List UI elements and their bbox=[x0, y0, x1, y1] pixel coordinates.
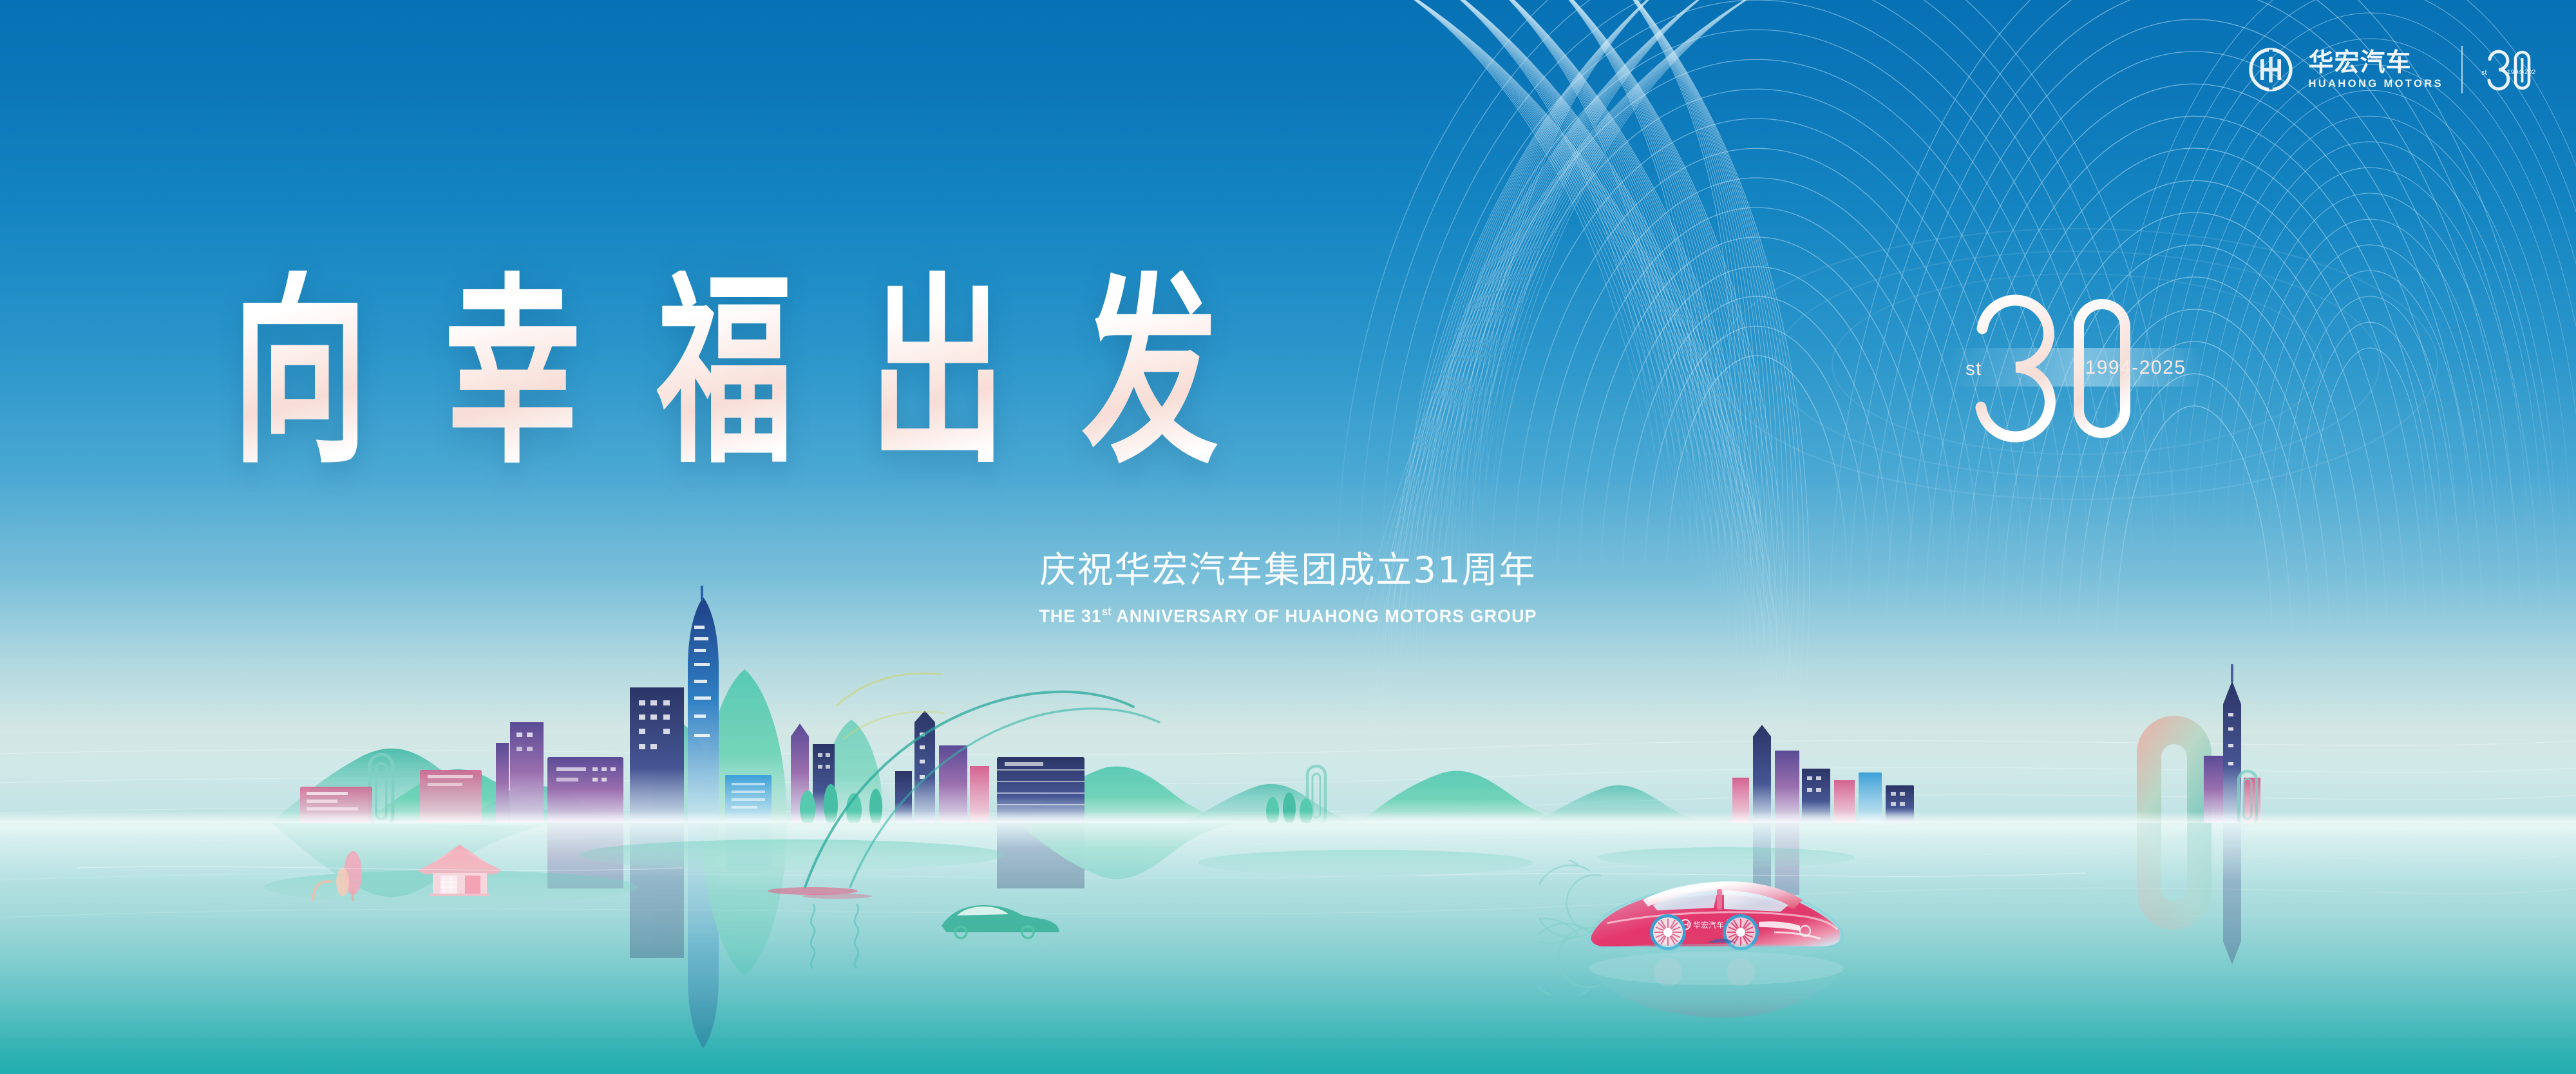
building bbox=[914, 711, 935, 823]
brand-name-english: HUAHONG MOTORS bbox=[2308, 79, 2443, 90]
ripple-squiggles bbox=[811, 904, 858, 968]
car-door-brand: 华宏汽车 bbox=[1693, 920, 1724, 930]
headline: “ 向 ” 幸 福 出 发 ” bbox=[232, 271, 1222, 411]
building bbox=[2244, 778, 2260, 823]
arch-building bbox=[2137, 716, 2211, 823]
waterfront-city-scene bbox=[0, 584, 2576, 1074]
building bbox=[895, 771, 912, 823]
building bbox=[939, 745, 967, 823]
building bbox=[510, 722, 544, 823]
skyline-reflection bbox=[270, 823, 2241, 1048]
subtitle-english: THE 31st ANNIVERSARY OF HUAHONG MOTORS G… bbox=[855, 605, 1721, 626]
concept-car: 华宏汽车 31 bbox=[1581, 860, 1851, 1021]
subtitle-en-ordinal: st bbox=[1102, 605, 1112, 618]
building bbox=[1775, 751, 1799, 823]
badge-ordinal: st bbox=[2481, 69, 2487, 77]
paperclip-sculpture bbox=[370, 754, 393, 828]
pink-trees bbox=[313, 851, 362, 901]
hills-far bbox=[270, 669, 1719, 823]
building bbox=[630, 687, 684, 823]
arc-landing-splash bbox=[768, 887, 872, 899]
brand-wordmark: 华宏汽车 HUAHONG MOTORS bbox=[2308, 50, 2443, 90]
building bbox=[1753, 725, 1771, 823]
building bbox=[2204, 756, 2223, 823]
brand-name-chinese: 华宏汽车 bbox=[2308, 50, 2443, 75]
quote-open-icon: “ bbox=[193, 265, 235, 346]
headline-char-2: 幸 bbox=[444, 271, 580, 475]
headline-char-1-glyph: 向 bbox=[232, 254, 368, 492]
building bbox=[1802, 769, 1830, 823]
low-building-left bbox=[300, 787, 372, 823]
paperclip-sculpture-2 bbox=[1307, 766, 1325, 825]
small-green-car bbox=[936, 905, 1063, 947]
building bbox=[547, 757, 623, 823]
poster-canvas: “ 向 ” 幸 福 出 发 ” 庆祝华宏汽车集团成立31周年 THE 31st … bbox=[0, 0, 2576, 1074]
water-ripple-lines bbox=[0, 741, 2576, 917]
pagoda bbox=[417, 845, 502, 896]
subtitle-en-suffix: ANNIVERSARY OF HUAHONG MOTORS GROUP bbox=[1112, 606, 1537, 626]
subtitle-chinese: 庆祝华宏汽车集团成立31周年 bbox=[837, 541, 1739, 593]
emblem-ordinal: st bbox=[1965, 358, 1982, 379]
headline-char-1: “ 向 ” bbox=[232, 271, 368, 475]
building bbox=[2223, 681, 2241, 823]
anniversary-emblem: st 1994-2025 bbox=[1945, 271, 2202, 464]
huahong-circle-monogram-icon bbox=[2248, 46, 2294, 93]
building bbox=[997, 757, 1084, 823]
subtitle-en-prefix: THE 31 bbox=[1039, 606, 1101, 626]
building bbox=[1834, 780, 1855, 823]
headline-char-5-glyph: 发 bbox=[1082, 254, 1218, 492]
background-line-art bbox=[0, 0, 2576, 1074]
building bbox=[420, 770, 482, 823]
building bbox=[1859, 772, 1882, 823]
building bbox=[1732, 778, 1749, 823]
logo-divider bbox=[2461, 46, 2463, 93]
anniversary-badge-31-icon: st 1994-2025 bbox=[2481, 43, 2536, 97]
brand-logo-lockup[interactable]: 华宏汽车 HUAHONG MOTORS st 1994-2025 bbox=[2248, 37, 2536, 102]
horizon-glow bbox=[0, 811, 2576, 837]
curved-tower bbox=[688, 597, 719, 823]
fan-lines-a bbox=[1330, 0, 2013, 838]
headline-char-3: 福 bbox=[657, 271, 793, 475]
headline-char-5: 发 ” bbox=[1082, 271, 1218, 475]
building bbox=[496, 743, 509, 823]
arc-trails bbox=[805, 673, 1159, 887]
headline-char-4: 出 bbox=[869, 271, 1005, 475]
quote-close-icon: ” bbox=[369, 265, 412, 346]
green-trees bbox=[800, 784, 1312, 827]
quote-close-icon-2: ” bbox=[1219, 265, 1262, 346]
building bbox=[813, 744, 835, 823]
water-surface bbox=[0, 823, 2576, 1074]
paperclip-sculpture-3 bbox=[2239, 771, 2257, 827]
building bbox=[1886, 785, 1914, 823]
emblem-years: 1994-2025 bbox=[2085, 357, 2186, 378]
subtitle-block: 庆祝华宏汽车集团成立31周年 THE 31st ANNIVERSARY OF H… bbox=[837, 541, 1739, 626]
building bbox=[970, 766, 989, 823]
fan-lines-b bbox=[1242, 0, 1833, 841]
badge-years: 1994-2025 bbox=[2507, 68, 2536, 76]
building bbox=[725, 775, 772, 823]
building bbox=[791, 724, 809, 823]
